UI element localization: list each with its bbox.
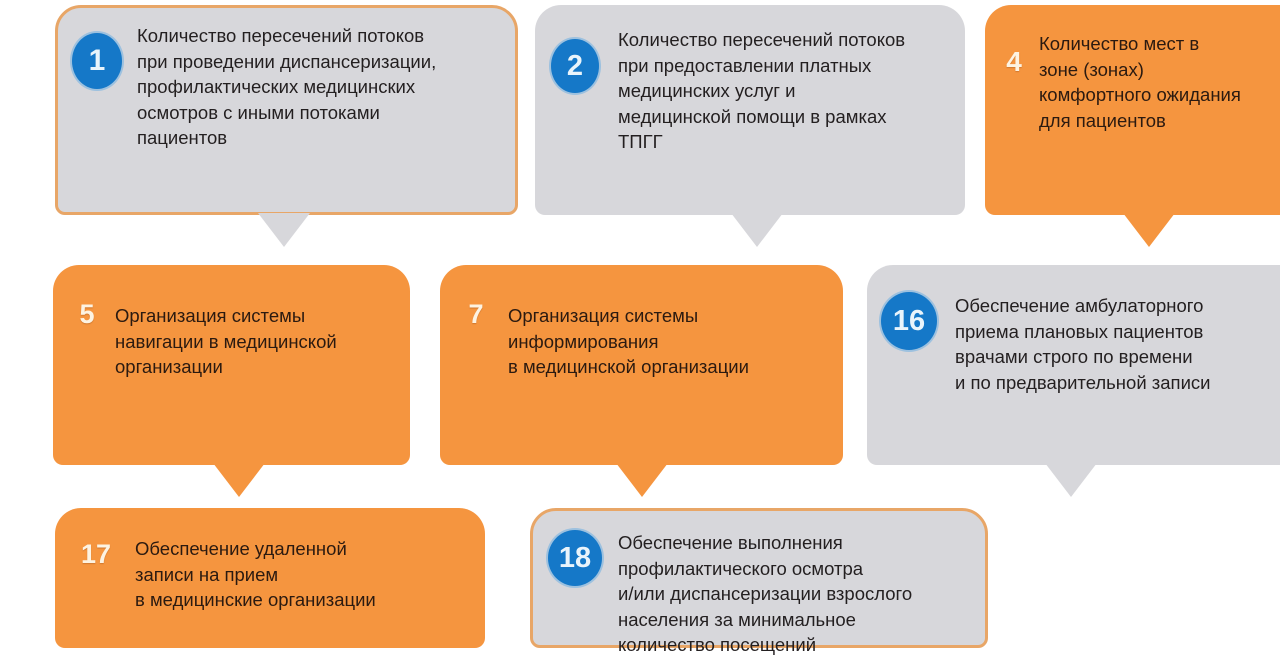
card-17-text: Обеспечение удаленной записи на прием в … <box>135 536 480 613</box>
card-7-text: Организация системы информирования в мед… <box>508 303 838 380</box>
card-4-tail-icon <box>1123 213 1175 247</box>
card-1-text: Количество пересечений потоков при прове… <box>137 23 507 151</box>
card-7-tail-icon <box>616 463 668 497</box>
card-7-number-badge: 7 <box>460 298 492 330</box>
card-2[interactable]: 2 Количество пересечений потоков при пре… <box>535 5 965 215</box>
card-2-text: Количество пересечений потоков при предо… <box>618 27 958 155</box>
card-5-tail-icon <box>213 463 265 497</box>
card-4-text: Количество мест в зоне (зонах) комфортно… <box>1039 31 1280 133</box>
card-4-number-badge: 4 <box>997 45 1031 79</box>
card-18-number-badge: 18 <box>548 530 602 586</box>
card-7[interactable]: 7 Организация системы информирования в м… <box>440 265 843 465</box>
card-18-text: Обеспечение выполнения профилактического… <box>618 530 978 658</box>
card-4[interactable]: 4 Количество мест в зоне (зонах) комфорт… <box>985 5 1280 215</box>
card-17-number-badge: 17 <box>77 537 115 571</box>
card-18[interactable]: 18 Обеспечение выполнения профилактическ… <box>530 508 988 648</box>
card-17[interactable]: 17 Обеспечение удаленной записи на прием… <box>55 508 485 648</box>
card-1-number-badge: 1 <box>72 33 122 89</box>
card-2-tail-icon <box>731 213 783 247</box>
card-16-text: Обеспечение амбулаторного приема плановы… <box>955 293 1280 395</box>
card-5-text: Организация системы навигации в медицинс… <box>115 303 405 380</box>
card-16[interactable]: 16 Обеспечение амбулаторного приема план… <box>867 265 1280 465</box>
diagram-canvas: 1 Количество пересечений потоков при про… <box>0 0 1280 640</box>
card-16-tail-icon <box>1045 463 1097 497</box>
card-1[interactable]: 1 Количество пересечений потоков при про… <box>55 5 518 215</box>
card-16-number-badge: 16 <box>881 292 937 350</box>
card-2-number-badge: 2 <box>551 39 599 93</box>
card-1-tail-icon <box>258 213 310 247</box>
card-5[interactable]: 5 Организация системы навигации в медици… <box>53 265 410 465</box>
card-5-number-badge: 5 <box>71 298 103 330</box>
